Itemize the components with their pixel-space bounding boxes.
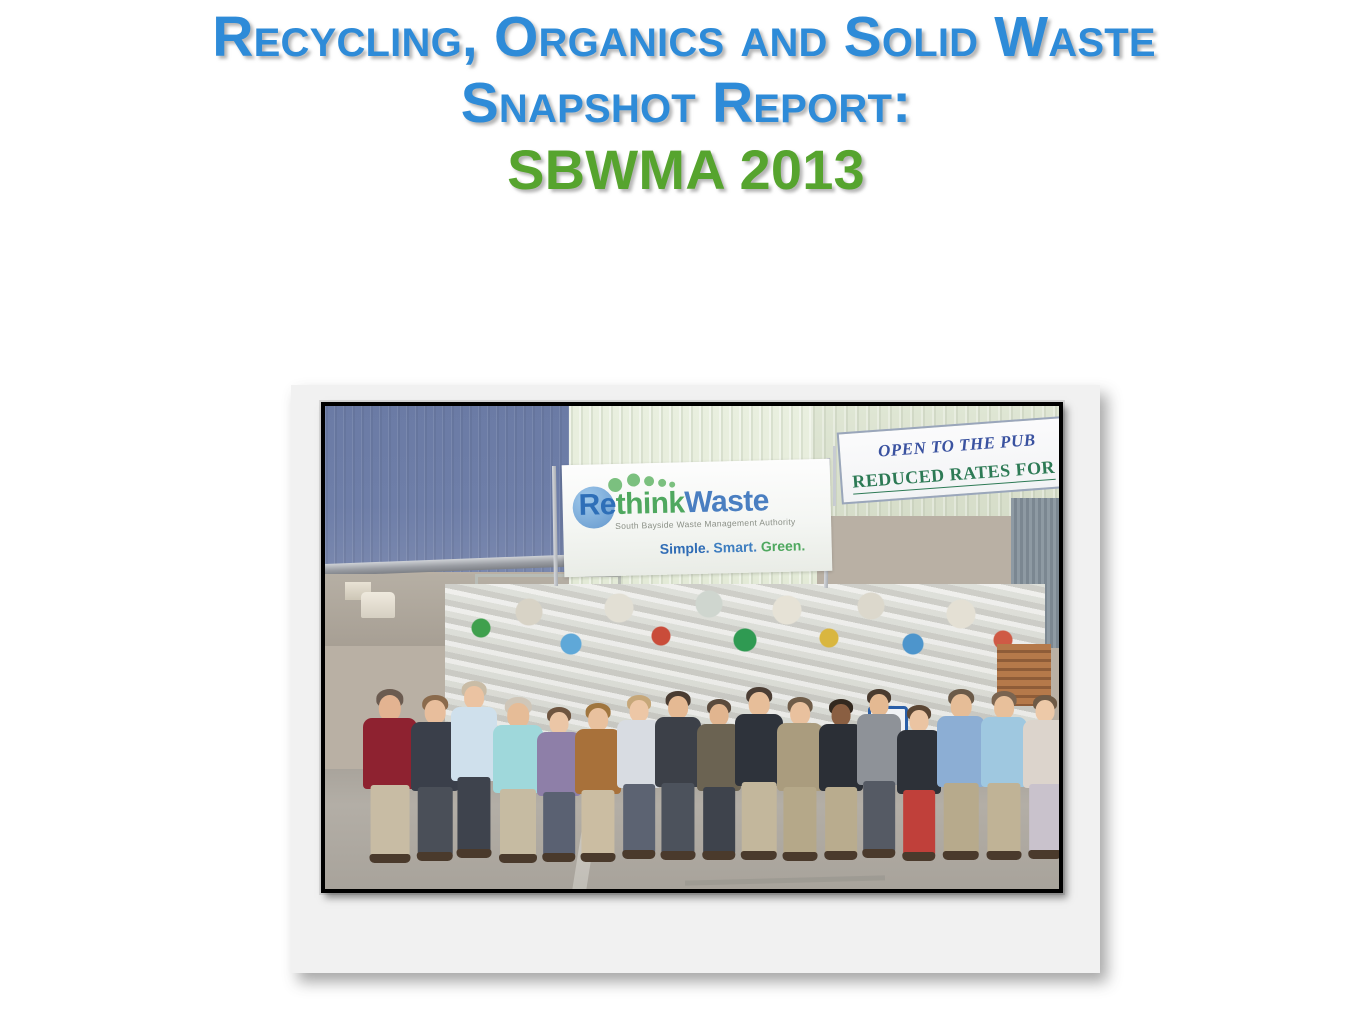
person-head [588, 708, 608, 731]
person-head [464, 686, 484, 709]
person-shoes [417, 852, 453, 861]
banner-logo-re: Re [578, 488, 616, 522]
banner-logo-think: think [615, 486, 684, 521]
person-shoes [499, 854, 537, 863]
person-legs [581, 790, 614, 856]
person-shoes [824, 851, 857, 860]
person-figure [655, 691, 701, 867]
title-line-2: Snapshot Report: [0, 74, 1372, 132]
person-legs [987, 783, 1020, 853]
person-legs [783, 787, 816, 855]
person-shoes [369, 854, 410, 863]
person-legs [863, 781, 895, 852]
person-head [630, 700, 649, 722]
person-figure [857, 689, 901, 867]
person-legs [742, 782, 777, 854]
person-figure [777, 697, 823, 867]
person-figure [735, 687, 783, 867]
person-head [910, 710, 929, 732]
person-legs [623, 784, 655, 853]
person-shoes [1028, 850, 1059, 859]
person-figure [981, 691, 1027, 867]
person-torso [777, 723, 823, 791]
person-torso [937, 716, 985, 787]
person-figure [575, 703, 621, 867]
person-legs [944, 783, 979, 854]
person-head [790, 702, 810, 725]
person-figure [937, 689, 985, 867]
person-figure [451, 681, 497, 867]
person-shoes [622, 850, 655, 859]
slide-canvas: Recycling, Organics and Solid Waste Snap… [0, 0, 1372, 1010]
person-torso [857, 714, 901, 785]
person-legs [1029, 784, 1059, 853]
person-head [710, 704, 729, 726]
person-figure [493, 697, 543, 867]
person-legs [661, 783, 694, 853]
sign-line-2: REDUCED RATES FOR [852, 457, 1056, 495]
person-shoes [542, 853, 575, 862]
title-line-3: SBWMA 2013 [0, 141, 1372, 198]
person-figure [363, 689, 417, 867]
person-shoes [783, 852, 818, 861]
person-legs [500, 789, 536, 857]
person-shoes [902, 852, 935, 861]
person-shoes [702, 851, 735, 860]
tagline-simple: Simple. [660, 540, 710, 557]
person-legs [418, 787, 453, 856]
person-torso [897, 730, 941, 795]
person-figure [1023, 695, 1059, 867]
person-head [749, 692, 770, 716]
rethinkwaste-banner: RethinkWaste South Bayside Waste Managem… [562, 459, 833, 578]
person-shoes [741, 851, 777, 860]
group-of-people [325, 589, 1059, 889]
group-photo: OPEN TO THE PUB REDUCED RATES FOR Rethin… [325, 406, 1059, 889]
sign-pole [833, 446, 836, 506]
page-title: Recycling, Organics and Solid Waste Snap… [0, 8, 1372, 198]
photo-black-border: OPEN TO THE PUB REDUCED RATES FOR Rethin… [321, 402, 1063, 893]
person-head [425, 700, 446, 724]
tagline-green: Green. [761, 537, 806, 554]
title-line-1: Recycling, Organics and Solid Waste [0, 8, 1372, 66]
person-torso [575, 729, 621, 795]
person-torso [981, 717, 1027, 787]
person-head [951, 694, 972, 718]
person-shoes [581, 853, 616, 862]
person-shoes [987, 851, 1022, 860]
person-head [379, 695, 401, 721]
person-shoes [661, 851, 696, 860]
person-shoes [862, 849, 895, 858]
person-torso [1023, 720, 1059, 789]
person-shoes [943, 851, 979, 860]
person-head [668, 696, 688, 719]
banner-logo-waste: Waste [684, 484, 769, 519]
person-torso [655, 717, 701, 787]
blue-corrugated-wall [325, 406, 573, 572]
person-legs [825, 787, 857, 854]
person-torso [735, 714, 783, 786]
person-head [994, 696, 1014, 719]
person-head [870, 694, 889, 716]
person-torso [493, 725, 543, 793]
person-shoes [457, 849, 492, 858]
photo-frame: OPEN TO THE PUB REDUCED RATES FOR Rethin… [291, 385, 1100, 973]
person-torso [451, 707, 497, 781]
person-head [1036, 700, 1055, 722]
sign-line-1: OPEN TO THE PUB [877, 430, 1036, 462]
person-legs [903, 790, 935, 855]
tagline-smart: Smart. [713, 539, 757, 556]
person-legs [371, 785, 410, 856]
person-legs [703, 787, 735, 854]
person-torso [363, 718, 417, 789]
person-figure [897, 705, 941, 867]
banner-tagline: Simple. Smart. Green. [660, 537, 806, 557]
person-legs [457, 777, 490, 851]
person-head [550, 712, 569, 734]
person-legs [543, 792, 575, 856]
person-head [832, 704, 851, 726]
person-head [507, 703, 529, 728]
